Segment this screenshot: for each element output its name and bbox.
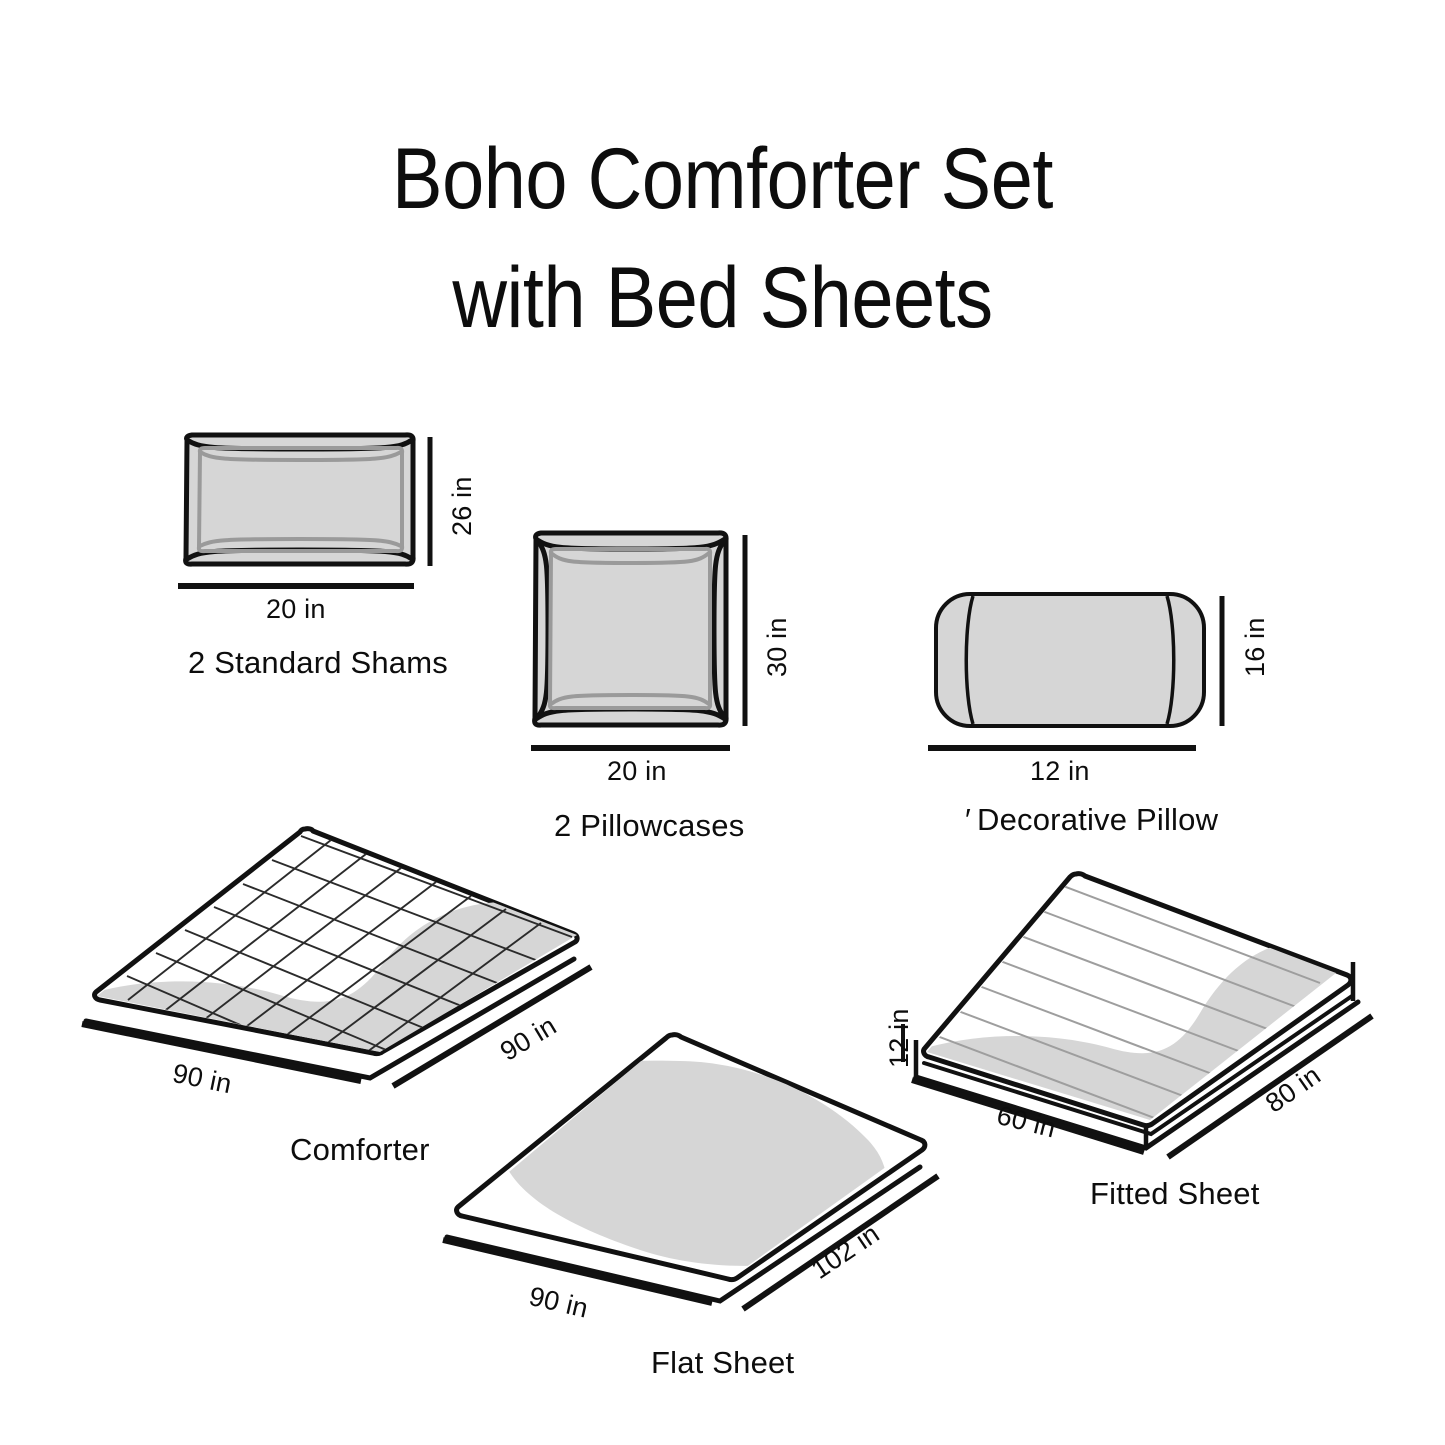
decorative-pillow-illustration (928, 594, 1222, 748)
bolster-body (936, 594, 1204, 726)
pillowcase-height-label: 30 in (762, 617, 793, 677)
fitted-sheet-illustration (903, 856, 1372, 1157)
bolster-height-label: 16 in (1240, 617, 1271, 677)
flat-sheet-illustration (443, 1035, 938, 1309)
product-dimensions-infographic: Boho Comforter Set with Bed Sheets (0, 0, 1445, 1445)
bolster-caption: Decorative Pillow (977, 802, 1218, 838)
sham-height-label: 26 in (447, 476, 478, 536)
diagram-artwork (0, 0, 1445, 1445)
sham-width-label: 20 in (266, 594, 326, 625)
pillowcase-width-label: 20 in (607, 756, 667, 787)
comforter-illustration (82, 829, 591, 1113)
bolster-width-label: 12 in (1030, 756, 1090, 787)
pillowcase-illustration (531, 533, 745, 748)
sham-caption: 2 Standard Shams (188, 645, 448, 681)
pillowcase-caption: 2 Pillowcases (554, 808, 744, 844)
bolster-caption-prefix: ′ (965, 802, 971, 838)
fitted-sheet-depth-label: 12 in (884, 1008, 915, 1068)
flat-sheet-caption: Flat Sheet (651, 1345, 794, 1381)
fitted-sheet-caption: Fitted Sheet (1090, 1176, 1260, 1212)
sham-illustration (178, 435, 430, 586)
sham-outer-body (186, 435, 414, 564)
comforter-caption: Comforter (290, 1132, 430, 1168)
